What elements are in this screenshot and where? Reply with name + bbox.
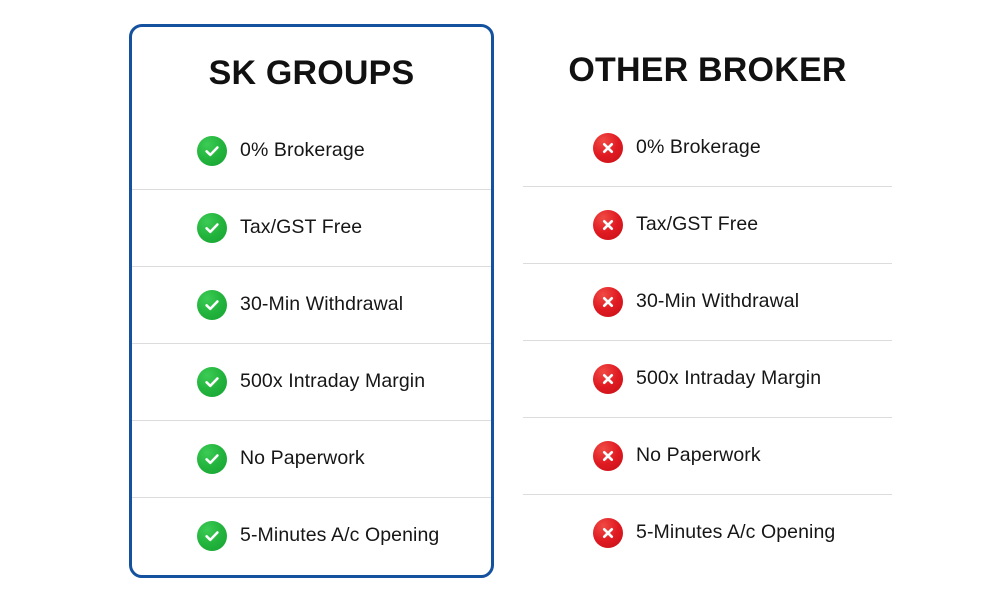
feature-row: 500x Intraday Margin xyxy=(132,343,491,420)
feature-row: 5-Minutes A/c Opening xyxy=(523,494,892,571)
feature-row: No Paperwork xyxy=(523,417,892,494)
cross-circle-icon xyxy=(593,518,623,548)
feature-label: 0% Brokerage xyxy=(240,139,365,162)
feature-row: 500x Intraday Margin xyxy=(523,340,892,417)
check-circle-icon xyxy=(197,444,227,474)
feature-row: 0% Brokerage xyxy=(523,109,892,186)
feature-label: 5-Minutes A/c Opening xyxy=(240,524,439,547)
feature-list-other-broker: 0% Brokerage Tax/GST Free 30-Min Withdra… xyxy=(523,109,892,571)
feature-label: Tax/GST Free xyxy=(240,216,362,239)
check-circle-icon xyxy=(197,367,227,397)
cross-circle-icon xyxy=(593,364,623,394)
feature-row: 30-Min Withdrawal xyxy=(523,263,892,340)
check-circle-icon xyxy=(197,290,227,320)
check-circle-icon xyxy=(197,521,227,551)
cross-circle-icon xyxy=(593,287,623,317)
check-circle-icon xyxy=(197,213,227,243)
feature-label: 500x Intraday Margin xyxy=(240,370,425,393)
comparison-column-other-broker: OTHER BROKER 0% Brokerage Tax/GST Free xyxy=(523,24,892,578)
cross-circle-icon xyxy=(593,133,623,163)
feature-row: 30-Min Withdrawal xyxy=(132,266,491,343)
feature-label: 30-Min Withdrawal xyxy=(636,290,799,313)
feature-label: No Paperwork xyxy=(240,447,365,470)
feature-row: 0% Brokerage xyxy=(132,112,491,189)
column-title-other-broker: OTHER BROKER xyxy=(523,53,892,87)
feature-row: No Paperwork xyxy=(132,420,491,497)
feature-row: Tax/GST Free xyxy=(132,189,491,266)
feature-row: Tax/GST Free xyxy=(523,186,892,263)
feature-row: 5-Minutes A/c Opening xyxy=(132,497,491,574)
feature-label: 0% Brokerage xyxy=(636,136,761,159)
feature-list-sk-groups: 0% Brokerage Tax/GST Free 30-Min Withdra… xyxy=(132,112,491,574)
cross-circle-icon xyxy=(593,441,623,471)
feature-label: 500x Intraday Margin xyxy=(636,367,821,390)
comparison-table: SK GROUPS 0% Brokerage Tax/GST Free xyxy=(0,0,1000,600)
feature-label: 5-Minutes A/c Opening xyxy=(636,521,835,544)
column-title-sk-groups: SK GROUPS xyxy=(132,56,491,90)
check-circle-icon xyxy=(197,136,227,166)
feature-label: 30-Min Withdrawal xyxy=(240,293,403,316)
feature-label: No Paperwork xyxy=(636,444,761,467)
cross-circle-icon xyxy=(593,210,623,240)
feature-label: Tax/GST Free xyxy=(636,213,758,236)
comparison-column-sk-groups: SK GROUPS 0% Brokerage Tax/GST Free xyxy=(129,24,494,578)
